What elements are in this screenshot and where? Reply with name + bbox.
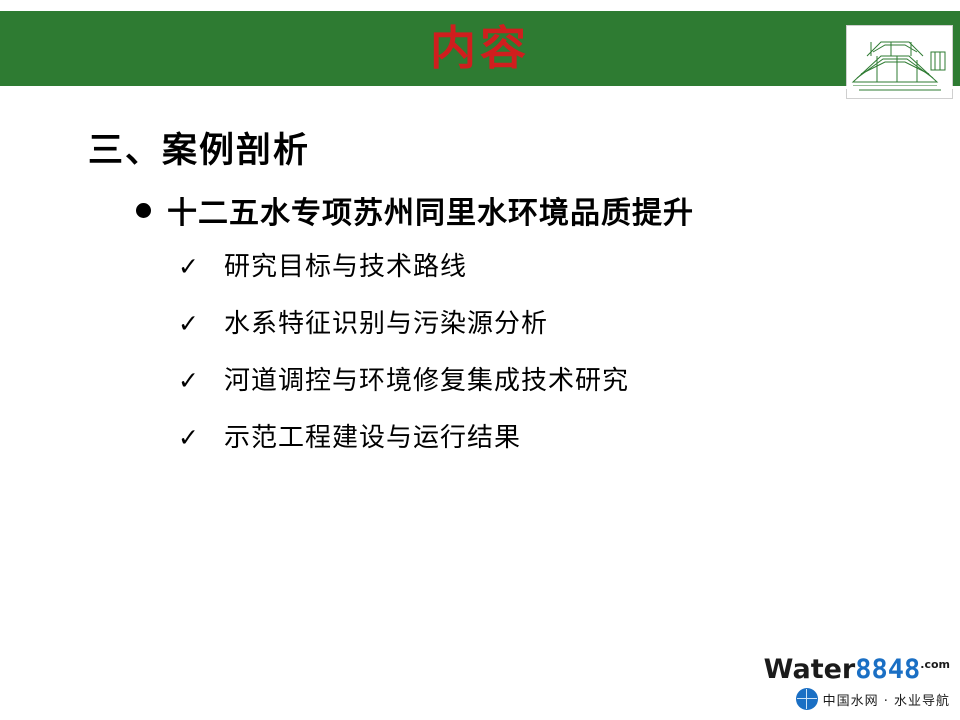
slide: 内容 [0, 0, 960, 720]
watermark-subtitle-row: 中国水网 · 水业导航 [796, 688, 950, 710]
list-item: ✓ 水系特征识别与污染源分析 [178, 303, 878, 340]
list-item: ✓ 示范工程建设与运行结果 [178, 417, 878, 454]
list-item-label: 研究目标与技术路线 [224, 246, 467, 283]
slide-header-banner: 内容 [0, 11, 960, 89]
check-icon: ✓ [178, 311, 204, 336]
bullet-item-primary: 十二五水专项苏州同里水环境品质提升 [136, 188, 694, 232]
check-icon: ✓ [178, 425, 204, 450]
check-icon: ✓ [178, 368, 204, 393]
watermark-brand: Water8848.com [764, 654, 950, 685]
header-divider [0, 86, 960, 89]
watermark-number: 8848 [855, 654, 920, 685]
list-item: ✓ 研究目标与技术路线 [178, 246, 878, 283]
list-item-label: 水系特征识别与污染源分析 [224, 303, 548, 340]
section-heading: 三、案例剖析 [88, 122, 310, 173]
watermark-brand-text: Water [764, 654, 856, 685]
list-item: ✓ 河道调控与环境修复集成技术研究 [178, 360, 878, 397]
list-item-label: 河道调控与环境修复集成技术研究 [224, 360, 629, 397]
watermark: Water8848.com 中国水网 · 水业导航 [762, 654, 952, 716]
watermark-suffix: .com [920, 658, 950, 671]
bullet-dot-icon [136, 203, 151, 218]
check-icon: ✓ [178, 254, 204, 279]
list-item-label: 示范工程建设与运行结果 [224, 417, 521, 454]
sub-bullet-list: ✓ 研究目标与技术路线 ✓ 水系特征识别与污染源分析 ✓ 河道调控与环境修复集成… [178, 246, 878, 474]
page-title: 内容 [0, 11, 960, 89]
bullet-item-primary-label: 十二五水专项苏州同里水环境品质提升 [167, 188, 694, 232]
globe-icon [796, 688, 818, 710]
watermark-subtitle: 中国水网 · 水业导航 [823, 690, 950, 709]
